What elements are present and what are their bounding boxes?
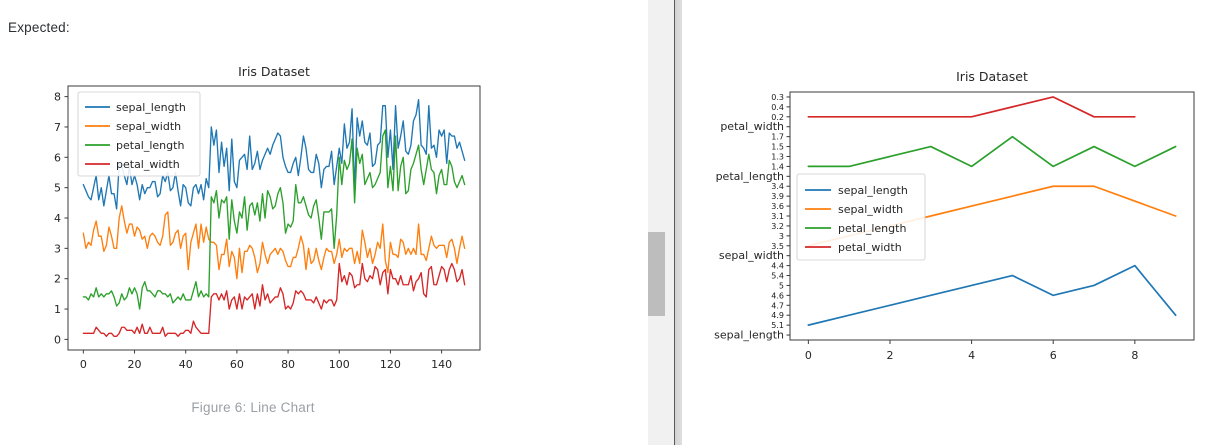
x-tick-label: 2 <box>886 349 893 362</box>
left-chart-svg: Iris Dataset012345678020406080100120140s… <box>18 58 488 413</box>
y-tick-label: 5 <box>54 182 61 195</box>
left-chart-figure: Iris Dataset012345678020406080100120140s… <box>18 58 488 413</box>
legend-label-petal_width: petal_width <box>838 241 902 254</box>
y-tick-label: 4.9 <box>771 311 784 320</box>
x-tick-label: 60 <box>230 358 244 371</box>
y-tick-label: sepal_length <box>714 329 784 342</box>
y-tick-label: 3.5 <box>771 242 784 251</box>
x-tick-label: 140 <box>431 358 452 371</box>
y-tick-label: 0.2 <box>771 113 784 122</box>
legend-label-petal_length: petal_length <box>116 139 184 152</box>
x-tick-label: 4 <box>968 349 975 362</box>
y-tick-label: 6 <box>54 151 61 164</box>
chart-title: Iris Dataset <box>956 69 1028 84</box>
y-tick-label: 0.4 <box>771 103 784 112</box>
y-tick-label: 4.4 <box>771 262 784 271</box>
right-chart-svg: Iris Datasetsepal_length5.14.94.74.655.4… <box>682 52 1209 392</box>
x-tick-label: 0 <box>80 358 87 371</box>
y-tick-label: 3.1 <box>771 212 784 221</box>
y-tick-label: 1.7 <box>771 133 784 142</box>
y-tick-label: 5.1 <box>771 321 784 330</box>
y-tick-label: sepal_width <box>719 249 784 262</box>
pane-splitter <box>648 0 682 445</box>
y-tick-label: petal_width <box>720 120 784 133</box>
x-tick-label: 40 <box>179 358 193 371</box>
y-tick-label: 1 <box>54 303 61 316</box>
x-tick-label: 6 <box>1050 349 1057 362</box>
legend-label-petal_width: petal_width <box>116 158 180 171</box>
y-tick-label: petal_length <box>716 170 784 183</box>
y-tick-label: 3.4 <box>771 182 784 191</box>
y-tick-label: 4.6 <box>771 291 784 300</box>
x-tick-label: 20 <box>128 358 142 371</box>
x-tick-label: 80 <box>281 358 295 371</box>
y-tick-label: 3 <box>54 242 61 255</box>
scrollbar-track[interactable] <box>648 0 665 445</box>
y-tick-label: 5 <box>779 281 784 290</box>
y-tick-label: 4 <box>54 212 61 225</box>
y-tick-label: 3.9 <box>771 192 784 201</box>
right-pane: Iris Datasetsepal_length5.14.94.74.655.4… <box>682 0 1209 445</box>
y-tick-label: 1.5 <box>771 143 784 152</box>
chart-title: Iris Dataset <box>238 64 310 79</box>
y-tick-label: 1.4 <box>771 162 784 171</box>
y-tick-label: 3 <box>779 232 784 241</box>
x-tick-label: 120 <box>380 358 401 371</box>
y-tick-label: 8 <box>54 91 61 104</box>
y-tick-label: 1.3 <box>771 152 784 161</box>
expected-label: Expected: <box>8 20 70 35</box>
y-tick-label: 2 <box>54 273 61 286</box>
x-tick-label: 0 <box>805 349 812 362</box>
legend-label-sepal_width: sepal_width <box>838 203 903 216</box>
right-chart-figure: Iris Datasetsepal_length5.14.94.74.655.4… <box>682 52 1209 392</box>
figure-caption: Figure 6: Line Chart <box>18 400 488 415</box>
y-tick-label: 0.3 <box>771 93 784 102</box>
y-tick-label: 4.7 <box>771 301 784 310</box>
legend-label-sepal_length: sepal_length <box>838 184 908 197</box>
x-tick-label: 8 <box>1131 349 1138 362</box>
y-tick-label: 3.6 <box>771 202 784 211</box>
legend-label-petal_length: petal_length <box>838 222 906 235</box>
legend-label-sepal_width: sepal_width <box>116 120 181 133</box>
x-tick-label: 100 <box>329 358 350 371</box>
legend-label-sepal_length: sepal_length <box>116 101 186 114</box>
scrollbar-thumb[interactable] <box>648 232 665 316</box>
y-tick-label: 5.4 <box>771 272 784 281</box>
y-tick-label: 7 <box>54 121 61 134</box>
y-tick-label: 0 <box>54 333 61 346</box>
screenshot-root: Expected: Iris Dataset012345678020406080… <box>0 0 1209 445</box>
y-tick-label: 3.2 <box>771 222 784 231</box>
left-pane: Expected: Iris Dataset012345678020406080… <box>0 0 648 445</box>
